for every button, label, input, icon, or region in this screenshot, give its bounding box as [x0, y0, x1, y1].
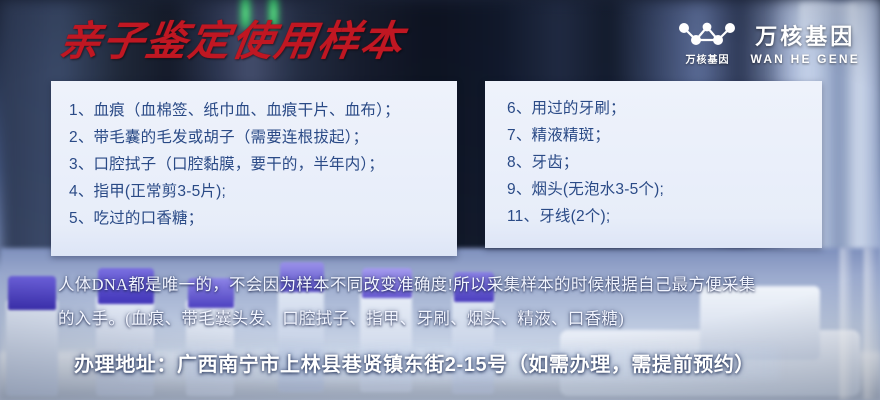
list-item: 4、指甲(正常剪3-5片);	[69, 178, 457, 205]
logo-name-cn: 万核基因	[755, 19, 855, 51]
list-item: 2、带毛囊的毛发或胡子（需要连根拔起）；	[69, 124, 457, 151]
poster-root: 亲子鉴定使用样本	[0, 0, 880, 400]
brand-logo: 万核基因 万核基因 WAN HE GENE	[676, 14, 860, 70]
list-item: 6、用过的牙刷；	[507, 95, 822, 122]
logo-mark: 万核基因	[676, 19, 738, 66]
address-bar: 办理地址：广西南宁市上林县巷贤镇东街2-15号（如需办理，需提前预约）	[0, 340, 880, 384]
sample-list-left: 1、血痕（血棉签、纸巾血、血痕干片、血布）； 2、带毛囊的毛发或胡子（需要连根拔…	[51, 81, 457, 232]
sample-list-right: 6、用过的牙刷； 7、精液精斑； 8、牙齿； 9、烟头(无泡水3-5个); 11…	[485, 81, 822, 230]
logo-wordmark: 万核基因 WAN HE GENE	[750, 19, 860, 66]
list-item: 7、精液精斑；	[507, 122, 822, 149]
list-item: 5、吃过的口香糖；	[69, 205, 457, 232]
sample-list-panel-left: 1、血痕（血棉签、纸巾血、血痕干片、血布）； 2、带毛囊的毛发或胡子（需要连根拔…	[51, 81, 457, 256]
list-item: 3、口腔拭子（口腔黏膜，要干的，半年内）；	[69, 151, 457, 178]
page-title: 亲子鉴定使用样本	[56, 18, 407, 64]
list-item: 9、烟头(无泡水3-5个);	[507, 176, 822, 203]
list-item: 11、牙线(2个);	[507, 203, 822, 230]
list-item: 8、牙齿；	[507, 149, 822, 176]
dna-note-line-2: 的入手。(血痕、带毛囊头发、口腔拭子、指甲、牙刷、烟头、精液、口香糖)	[58, 302, 858, 336]
molecule-icon	[676, 19, 738, 49]
list-item: 1、血痕（血棉签、纸巾血、血痕干片、血布）；	[69, 97, 457, 124]
address-text: 办理地址：广西南宁市上林县巷贤镇东街2-15号（如需办理，需提前预约）	[74, 348, 755, 377]
logo-name-en: WAN HE GENE	[750, 52, 860, 66]
sample-list-panel-right: 6、用过的牙刷； 7、精液精斑； 8、牙齿； 9、烟头(无泡水3-5个); 11…	[485, 81, 822, 248]
dna-note: 人体DNA都是唯一的，不会因为样本不同改变准确度!所以采集样本的时候根据自己最方…	[58, 268, 858, 336]
logo-mark-caption: 万核基因	[685, 51, 729, 66]
dna-note-line-1: 人体DNA都是唯一的，不会因为样本不同改变准确度!所以采集样本的时候根据自己最方…	[58, 268, 858, 302]
